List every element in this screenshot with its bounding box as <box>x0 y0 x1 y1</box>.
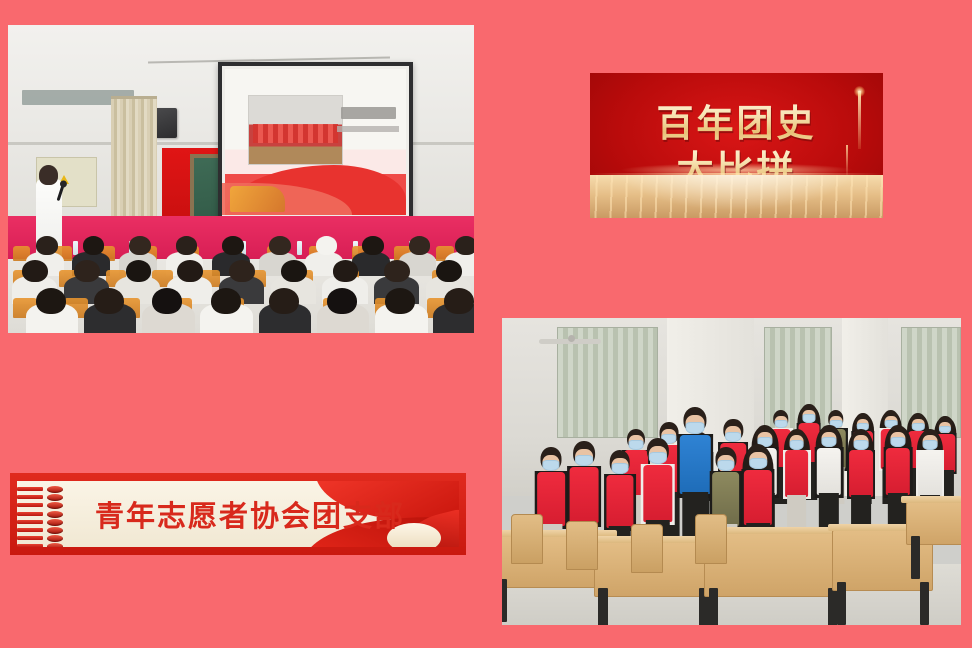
wall-speaker-icon <box>155 108 177 138</box>
volunteer-vest <box>680 435 710 494</box>
notebook-dash <box>17 512 43 516</box>
notebook-dash <box>17 520 43 524</box>
notebook-dash <box>17 528 43 532</box>
photo-volunteers <box>502 318 961 625</box>
label-banner-text: 青年志愿者协会团支部 <box>95 493 405 535</box>
label-banner-paper: 青年志愿者协会团支部 <box>17 481 459 547</box>
audience-person-head <box>129 236 151 255</box>
desk-leg <box>828 588 837 625</box>
audience-person-head <box>229 260 255 282</box>
volunteer-person <box>782 429 811 541</box>
notebook-ring <box>47 511 63 518</box>
volunteer-vest <box>918 450 942 496</box>
window-curtain <box>111 96 158 219</box>
notebook-dash <box>17 503 43 507</box>
notebook-ring <box>47 519 63 526</box>
audience-person-head <box>211 288 241 314</box>
face-mask-icon <box>686 422 705 434</box>
slide-title-text-block <box>341 107 396 119</box>
notebook-ring <box>47 494 63 501</box>
audience-person-head <box>281 260 307 282</box>
audience-person-head <box>384 260 410 282</box>
presenter-head <box>39 165 59 185</box>
audience-person-head <box>22 260 48 282</box>
desk-leg <box>502 579 507 622</box>
flip-seat <box>566 521 598 570</box>
desk-surface <box>901 496 961 503</box>
slide-embedded-photo <box>248 95 342 165</box>
audience-person-head <box>36 236 58 255</box>
face-mask-icon <box>717 460 734 471</box>
desk-leg <box>709 588 718 625</box>
slide-gold-ornament <box>230 186 285 212</box>
notebook-dash <box>17 544 43 547</box>
audience-area <box>8 234 474 333</box>
audience-person-head <box>455 236 474 255</box>
projector-screen <box>218 62 414 222</box>
notebook-dash <box>17 495 43 499</box>
notebook-ring <box>47 535 63 542</box>
notebook-dash <box>17 487 43 491</box>
notebook-ring <box>47 486 63 493</box>
flip-seat <box>631 524 663 573</box>
label-banner: 青年志愿者协会团支部 <box>10 473 466 555</box>
audience-person-head <box>152 288 182 314</box>
desk-leg <box>920 582 929 625</box>
notebook-ring <box>47 543 63 547</box>
volunteer-vest <box>817 448 841 496</box>
desk-leg <box>598 588 607 625</box>
audience-person-head <box>94 288 124 314</box>
volunteer-vest <box>785 450 809 496</box>
face-mask-icon <box>890 437 905 447</box>
audience-person-head <box>333 260 359 282</box>
audience-person-head <box>74 260 100 282</box>
audience-person-head <box>36 288 66 314</box>
ceiling-fan-icon <box>539 339 601 344</box>
audience-person-head <box>327 288 357 314</box>
audience-person-cap <box>316 236 338 255</box>
volunteer-person <box>814 425 844 539</box>
audience-person-head <box>222 236 244 255</box>
face-mask-icon <box>543 460 560 471</box>
volunteer-vest <box>849 450 873 496</box>
audience-person-head <box>409 236 431 255</box>
slide-subtitle-text-block <box>337 126 399 132</box>
notebook-rings-icon <box>17 481 65 547</box>
poster-canvas: ★ <box>0 0 972 648</box>
desk-leg <box>837 582 846 625</box>
audience-person-head <box>436 260 462 282</box>
title-banner: 百年团史 大比拼 <box>590 73 883 218</box>
notebook-ring <box>47 527 63 534</box>
audience-person-head <box>362 236 384 255</box>
flip-seat <box>695 514 727 563</box>
volunteer-vest <box>570 467 599 523</box>
banner-divider <box>590 173 883 175</box>
audience-person-head <box>269 288 299 314</box>
volunteer-vest <box>886 448 910 496</box>
face-mask-icon <box>725 432 741 442</box>
volunteer-vest <box>643 465 672 522</box>
banner-gold-floor <box>590 175 883 219</box>
notebook-ring <box>47 502 63 509</box>
notebook-dash <box>17 536 43 540</box>
face-mask-icon <box>749 458 767 469</box>
photo-lecture-hall: ★ <box>8 25 474 333</box>
volunteer-vest <box>744 470 772 525</box>
face-mask-icon <box>821 437 836 447</box>
face-mask-icon <box>611 463 628 474</box>
audience-person-head <box>126 260 152 282</box>
audience-person-head <box>83 236 105 255</box>
volunteer-vest <box>606 475 633 528</box>
audience-person-head <box>177 260 203 282</box>
presentation-slide <box>225 69 407 215</box>
flip-seat <box>511 514 543 563</box>
desk-leg <box>911 536 920 579</box>
audience-person-head <box>176 236 198 255</box>
audience-person-head <box>385 288 415 314</box>
face-mask-icon <box>649 452 667 464</box>
audience-person-head <box>444 288 474 314</box>
audience-person-head <box>269 236 291 255</box>
